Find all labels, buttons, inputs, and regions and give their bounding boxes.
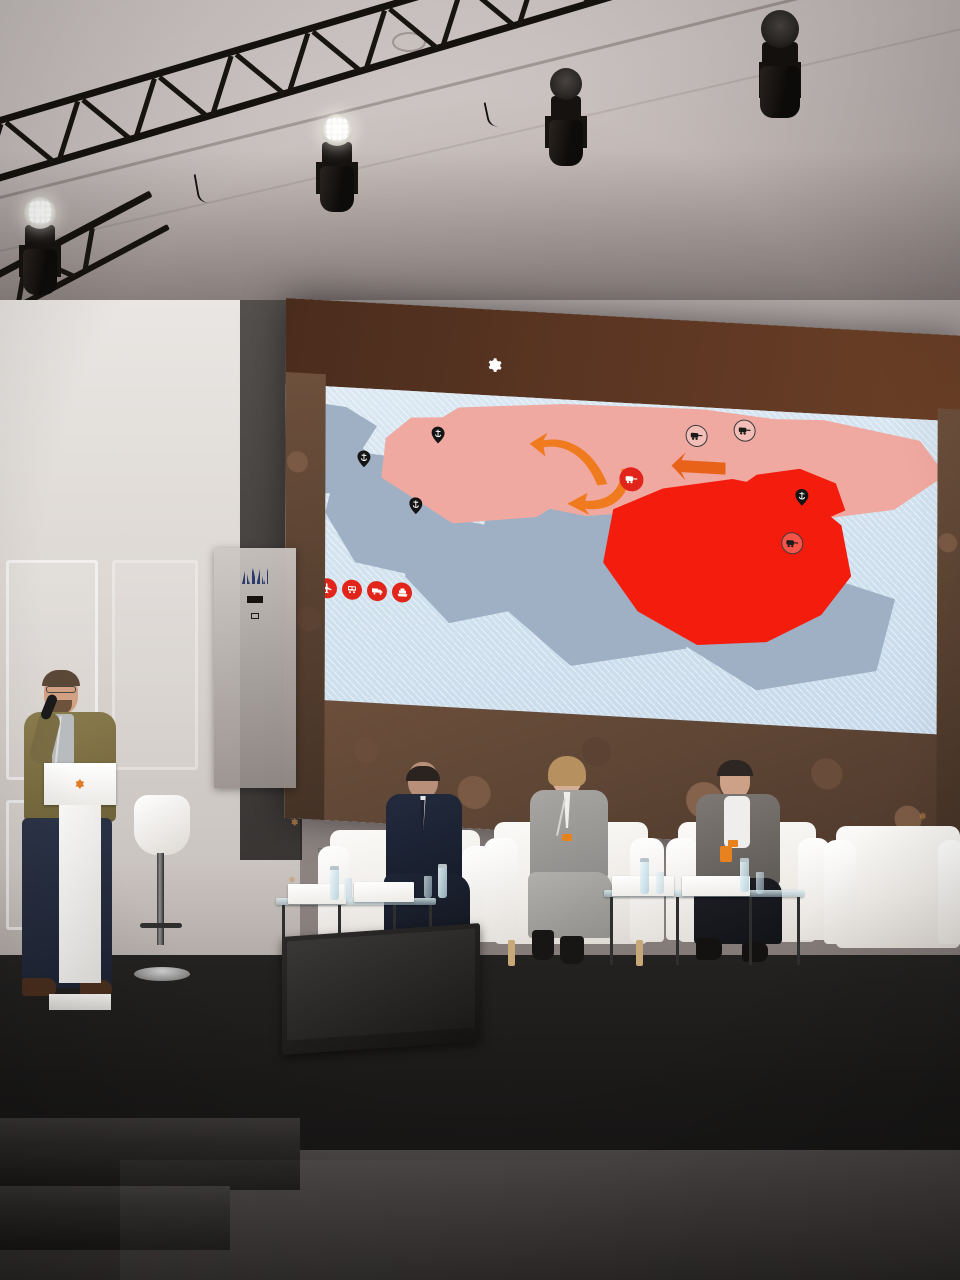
map-legend <box>317 572 412 610</box>
truss-beam <box>0 0 960 191</box>
sofa-4-arm-right <box>938 840 960 944</box>
table-leg-3 <box>749 897 752 965</box>
coffee-table-right <box>604 890 804 966</box>
sofa-2-leg-l <box>508 940 515 966</box>
port-pin-novorossiysk-icon <box>409 497 422 515</box>
monitor-screen <box>287 928 475 1040</box>
backdrop-logo-5 <box>918 812 928 820</box>
conference-photo <box>0 0 960 1280</box>
panelist-2-boot-l <box>532 930 554 960</box>
speaker-glasses <box>46 686 76 693</box>
gateway-marker-suifenhe <box>781 532 803 555</box>
port-pin-vladivostok-icon <box>795 488 808 506</box>
slide-right-photo <box>936 408 960 855</box>
panelist-2-legs <box>528 872 612 938</box>
ship-icon <box>392 582 412 603</box>
gateway-marker-manchuria <box>686 424 708 447</box>
sofa-4-arm-left <box>824 840 856 944</box>
truck-icon <box>367 581 387 602</box>
stool-footrest <box>140 923 182 928</box>
confidence-monitor <box>282 923 480 1055</box>
panelist-2-hair <box>548 756 586 786</box>
gear-icon <box>486 356 503 374</box>
train-icon <box>624 474 638 485</box>
port-pin-spb-icon <box>432 426 445 444</box>
panelist-3-hair <box>717 760 753 776</box>
train-icon <box>738 425 752 436</box>
backdrop-logo-2 <box>288 876 297 883</box>
light-cable-1 <box>194 170 225 204</box>
backdrop-logo-1 <box>290 818 300 826</box>
stool-base <box>134 967 190 981</box>
podium-column <box>59 805 101 983</box>
stool-seat <box>134 795 190 855</box>
gear-icon <box>288 876 295 883</box>
water-bottle-2 <box>438 864 447 898</box>
gateway-marker-heihe <box>734 419 756 442</box>
arrow-to-border-icon <box>671 446 729 483</box>
das-wordmark <box>920 365 946 366</box>
metprom-logo <box>242 568 268 586</box>
nameplate-2 <box>354 882 414 902</box>
das-logo <box>920 365 946 370</box>
bar-stool <box>128 795 194 985</box>
table-leg-2 <box>676 897 679 965</box>
gateway-marker-khorgos <box>619 467 643 492</box>
table-leg-4 <box>797 897 800 965</box>
train-icon <box>342 579 362 600</box>
water-glass-4 <box>756 872 764 894</box>
panelist-2-badge <box>562 834 572 841</box>
gear-icon <box>74 779 84 789</box>
gear-icon <box>918 812 926 820</box>
panelist-2-boot-r <box>560 936 584 964</box>
table-leg-1 <box>610 897 613 965</box>
sofa-2-arm-left <box>484 838 518 942</box>
orange-item-on-table <box>720 846 732 862</box>
train-icon <box>785 538 799 549</box>
train-icon <box>690 431 704 442</box>
water-glass-1 <box>344 878 352 900</box>
podium-base <box>49 994 111 1010</box>
panelist-1-hair <box>406 766 440 781</box>
speaker-hair <box>42 670 80 686</box>
gear-icon <box>290 818 298 826</box>
water-bottle-1 <box>330 866 339 900</box>
metprom-mark-icon <box>242 568 268 584</box>
port-pin-kaliningrad-icon <box>357 450 370 468</box>
floor-sheen <box>120 1160 960 1280</box>
lighting-truss <box>0 10 960 340</box>
water-bottle-3 <box>640 858 649 894</box>
backdrop-ite-4 <box>852 816 858 820</box>
truss-chord-bottom <box>0 0 960 191</box>
podium-top <box>44 763 116 805</box>
stool-post <box>157 853 164 945</box>
ite-sponsor-logo <box>251 613 259 619</box>
das-tagline <box>920 369 946 370</box>
legend-icon-row <box>317 578 412 603</box>
das-sponsor-logo <box>247 596 263 603</box>
miningconf-logo <box>486 356 508 374</box>
step-tread-upper <box>0 1118 300 1152</box>
podium-logo <box>74 779 86 789</box>
water-bottle-4 <box>740 858 749 892</box>
water-glass-3 <box>656 872 664 894</box>
sponsor-banner <box>214 548 296 788</box>
water-glass-2 <box>424 876 432 898</box>
podium <box>44 763 116 1010</box>
